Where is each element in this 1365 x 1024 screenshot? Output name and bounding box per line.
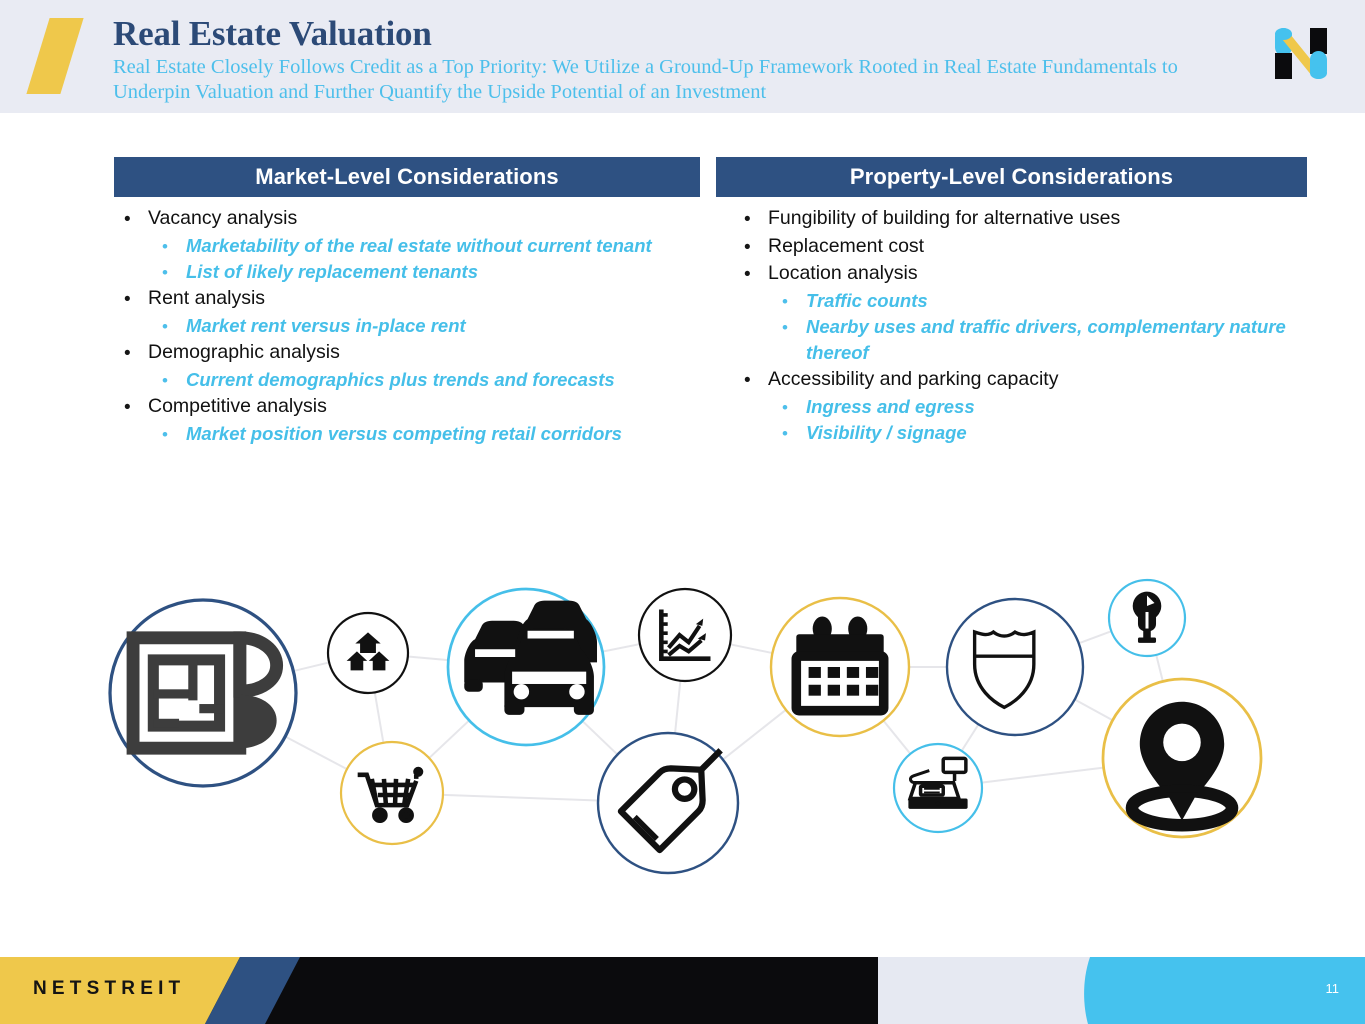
- shopping-cart-icon-node: [341, 742, 443, 844]
- bullet-list-market-level: •Vacancy analysis•Marketability of the r…: [118, 205, 708, 448]
- price-tag-icon-node: [598, 733, 738, 873]
- bullet-item: •Fungibility of building for alternative…: [738, 205, 1313, 232]
- network-connector-line: [293, 662, 329, 671]
- bullet-dot-icon: •: [124, 393, 148, 417]
- network-connector-line: [408, 657, 448, 661]
- icon-network-graphic: [85, 560, 1295, 910]
- network-connector-line: [1079, 631, 1112, 643]
- network-connector-line: [582, 721, 617, 755]
- houses-icon-node: [328, 613, 408, 693]
- sub-bullet-item: •Traffic counts: [738, 288, 1313, 313]
- slide-header-banner: Real Estate Valuation Real Estate Closel…: [0, 0, 1365, 113]
- bullet-dot-icon: •: [782, 394, 806, 416]
- network-connector-line: [429, 720, 469, 758]
- bullet-text: Traffic counts: [806, 288, 928, 313]
- bullet-item: •Accessibility and parking capacity: [738, 366, 1313, 393]
- parking-meter-icon-node: [1109, 580, 1185, 656]
- bullet-text: Ingress and egress: [806, 394, 975, 419]
- bullet-dot-icon: •: [744, 260, 768, 284]
- blueprint-icon-node: [110, 600, 296, 786]
- page-title: Real Estate Valuation: [113, 14, 1243, 53]
- bullet-text: Fungibility of building for alternative …: [768, 205, 1120, 232]
- network-connector-line: [675, 681, 680, 734]
- bullet-dot-icon: •: [782, 314, 806, 336]
- bullet-text: Rent analysis: [148, 285, 265, 312]
- bullet-dot-icon: •: [782, 288, 806, 310]
- bullet-item: •Vacancy analysis: [118, 205, 708, 232]
- sub-bullet-item: •Current demographics plus trends and fo…: [118, 367, 708, 392]
- column-header-market-level: Market-Level Considerations: [114, 157, 700, 197]
- bullet-dot-icon: •: [124, 205, 148, 229]
- bullet-text: Nearby uses and traffic drivers, complem…: [806, 314, 1313, 365]
- bullet-text: Market rent versus in-place rent: [186, 313, 466, 338]
- bullet-item: •Demographic analysis: [118, 339, 708, 366]
- bullet-text: Current demographics plus trends and for…: [186, 367, 615, 392]
- bullet-dot-icon: •: [162, 421, 186, 443]
- line-chart-icon-node: [639, 589, 731, 681]
- sub-bullet-item: •Market position versus competing retail…: [118, 421, 708, 446]
- network-connector-line: [1075, 700, 1113, 721]
- bullet-text: Visibility / signage: [806, 420, 967, 445]
- bullet-text: Replacement cost: [768, 233, 924, 260]
- bullet-text: Demographic analysis: [148, 339, 340, 366]
- network-connector-line: [883, 721, 910, 754]
- sub-bullet-item: •List of likely replacement tenants: [118, 259, 708, 284]
- network-connector-line: [982, 768, 1104, 783]
- icon-ring: [328, 613, 408, 693]
- bullet-text: Market position versus competing retail …: [186, 421, 622, 446]
- page-subtitle: Real Estate Closely Follows Credit as a …: [113, 55, 1243, 104]
- bullet-dot-icon: •: [162, 367, 186, 389]
- traffic-cars-icon-node: [448, 589, 604, 745]
- bullet-text: Location analysis: [768, 260, 918, 287]
- sub-bullet-item: •Nearby uses and traffic drivers, comple…: [738, 314, 1313, 365]
- cash-register-icon-node: [894, 744, 982, 832]
- sub-bullet-item: •Visibility / signage: [738, 420, 1313, 445]
- bullet-dot-icon: •: [124, 285, 148, 309]
- bullet-dot-icon: •: [162, 259, 186, 281]
- icon-ring: [639, 589, 731, 681]
- network-connector-line: [723, 710, 786, 760]
- highway-shield-icon-node: [947, 599, 1083, 735]
- network-connector-line: [602, 644, 639, 652]
- bullet-dot-icon: •: [162, 313, 186, 335]
- bullet-dot-icon: •: [162, 233, 186, 255]
- network-connector-line: [443, 795, 598, 801]
- bullet-text: Competitive analysis: [148, 393, 327, 420]
- sub-bullet-item: •Ingress and egress: [738, 394, 1313, 419]
- bullet-list-property-level: •Fungibility of building for alternative…: [738, 205, 1313, 447]
- bullet-dot-icon: •: [744, 366, 768, 390]
- bullet-text: Accessibility and parking capacity: [768, 366, 1058, 393]
- slide-footer: [0, 957, 1365, 1024]
- bullet-text: Marketability of the real estate without…: [186, 233, 652, 258]
- netstreit-n-logo: [1266, 18, 1336, 88]
- bullet-item: •Competitive analysis: [118, 393, 708, 420]
- netstreit-wordmark: NETSTREIT: [33, 978, 185, 1000]
- bullet-text: List of likely replacement tenants: [186, 259, 478, 284]
- network-connector-line: [730, 644, 772, 653]
- yellow-accent-slash: [26, 18, 83, 94]
- network-connector-line: [962, 724, 979, 751]
- bullet-text: Vacancy analysis: [148, 205, 297, 232]
- location-pin-icon-node: [1103, 679, 1261, 837]
- bullet-dot-icon: •: [782, 420, 806, 442]
- sub-bullet-item: •Market rent versus in-place rent: [118, 313, 708, 338]
- bullet-item: •Location analysis: [738, 260, 1313, 287]
- bullet-dot-icon: •: [124, 339, 148, 363]
- page-number: 11: [1326, 981, 1340, 996]
- bullet-dot-icon: •: [744, 233, 768, 257]
- network-connector-line: [1156, 655, 1163, 681]
- network-connector-line: [375, 692, 384, 742]
- bullet-item: •Replacement cost: [738, 233, 1313, 260]
- network-connector-line: [285, 736, 347, 769]
- bullet-dot-icon: •: [744, 205, 768, 229]
- title-block: Real Estate Valuation Real Estate Closel…: [113, 14, 1243, 104]
- sub-bullet-item: •Marketability of the real estate withou…: [118, 233, 708, 258]
- calendar-icon-node: [771, 598, 909, 736]
- icon-ring: [947, 599, 1083, 735]
- column-header-property-level: Property-Level Considerations: [716, 157, 1307, 197]
- bullet-item: •Rent analysis: [118, 285, 708, 312]
